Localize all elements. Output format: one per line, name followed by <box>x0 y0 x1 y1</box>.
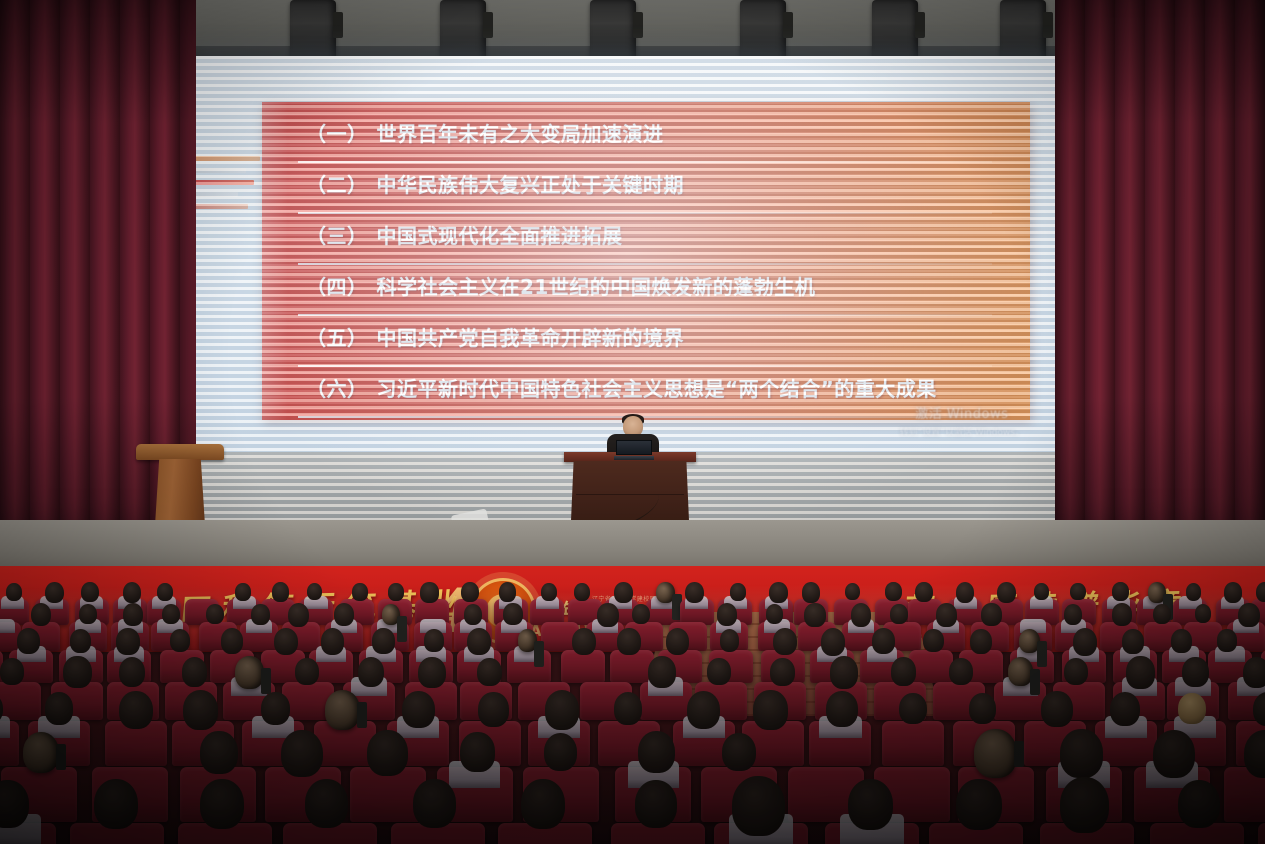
audience-member-head <box>94 779 138 829</box>
audience-member-head <box>281 730 323 778</box>
audience-member-head <box>1217 629 1236 651</box>
audience-member-head <box>541 583 557 601</box>
audience-member-head <box>826 691 858 727</box>
audience-member-head <box>372 628 395 654</box>
audience-member-head <box>235 656 264 689</box>
audience-member-head <box>949 658 973 685</box>
slide-item-text: 中国式现代化全面推进拓展 <box>377 224 623 248</box>
audience-member-head <box>597 603 619 628</box>
slide-item-number: （四） <box>306 275 368 299</box>
audience-seat <box>0 682 41 720</box>
audience-member-head <box>119 657 146 687</box>
audience-member-head <box>274 628 298 656</box>
audience-member-head <box>891 657 916 686</box>
audience-member-head <box>890 604 908 624</box>
audience-member-head <box>1112 582 1129 601</box>
watermark-title: 激活 Windows <box>900 403 1024 422</box>
audience-member-head <box>1182 657 1208 687</box>
stage-spotlight <box>290 0 336 58</box>
audience-member-head <box>804 603 825 627</box>
audience-member-head <box>632 604 650 624</box>
audience-member-head <box>956 779 1001 831</box>
audience-member-head <box>123 582 142 603</box>
audience-member-head <box>206 604 224 625</box>
audience-member-head <box>717 603 737 626</box>
audience-member-head <box>923 629 943 652</box>
audience-member-head <box>116 628 140 655</box>
audience-member-head <box>221 628 243 653</box>
audience-member-head <box>0 658 24 685</box>
audience-member-head <box>420 582 438 603</box>
desk-seam <box>576 494 684 495</box>
audience-member-head <box>183 690 218 730</box>
audience-member-head <box>848 779 893 830</box>
audience-member-head <box>544 733 578 771</box>
audience-member-head <box>307 583 322 600</box>
audience-member-head <box>899 693 927 725</box>
slide-item: （四）科学社会主义在21世纪的中国焕发新的蓬勃生机 <box>262 265 1030 316</box>
audience-member-head <box>1178 780 1220 828</box>
audience-member-head <box>518 629 537 651</box>
audience-member-head <box>1153 604 1171 625</box>
audience-member-head <box>63 656 91 688</box>
audience-member-head <box>997 582 1016 604</box>
audience-member-head <box>478 692 509 727</box>
audience-member-head <box>1112 603 1132 625</box>
audience-member-head <box>770 658 795 686</box>
audience-member-head <box>936 603 957 627</box>
audience-member-head <box>1034 583 1049 600</box>
audience-member-head <box>358 657 385 687</box>
audience-seat <box>882 721 944 766</box>
audience-member-head <box>1153 730 1195 778</box>
slide-item-number: （三） <box>306 224 368 248</box>
audience-member-head <box>769 582 788 604</box>
slide-item: （一）世界百年未有之大变局加速演进 <box>262 112 1030 163</box>
audience-member-head <box>382 604 401 625</box>
audience-member-head <box>574 583 590 601</box>
audience-uniform <box>0 716 10 739</box>
audience-seat <box>909 650 953 683</box>
audience-member-head <box>251 604 270 625</box>
audience-member-head <box>200 779 244 829</box>
audience-member-head <box>477 658 502 686</box>
audience-member-head <box>885 582 902 601</box>
audience-member-head <box>617 628 640 655</box>
audience-member-head <box>730 583 746 601</box>
windows-activation-watermark: 激活 Windows 转到“设置”以激活 Windows。 <box>900 403 1024 438</box>
slide-item-text: 世界百年未有之大变局加速演进 <box>377 122 664 146</box>
audience-member-head <box>334 603 354 626</box>
audience-member-head <box>17 628 40 654</box>
audience-member-head <box>1064 658 1088 686</box>
slide-item-text: 中国共产党自我革命开辟新的境界 <box>377 326 685 350</box>
audience-member-head <box>1256 582 1265 602</box>
audience-member-head <box>305 779 348 828</box>
slide-item-number: （二） <box>306 173 368 197</box>
audience-member-head <box>367 730 407 776</box>
audience-member-head <box>830 656 858 688</box>
audience-member-head <box>424 629 444 651</box>
audience-member-head <box>272 582 289 601</box>
slide-item-text: 科学社会主义在21世纪的中国焕发新的蓬勃生机 <box>377 275 816 299</box>
audience-member-head <box>45 582 64 604</box>
stage-spotlight <box>872 0 918 58</box>
lectern-top <box>136 444 224 460</box>
laptop-keyboard <box>614 456 654 460</box>
slide-item: （五）中国共产党自我革命开辟新的境界 <box>262 316 1030 367</box>
audience-member-head <box>1224 582 1242 603</box>
slide-content-panel: （一）世界百年未有之大变局加速演进 （二）中华民族伟大复兴正处于关键时期 （三）… <box>262 102 1030 420</box>
audience-member-head <box>288 603 310 628</box>
audience-member-head <box>872 628 895 654</box>
audience-member-head <box>707 658 731 685</box>
laptop-screen <box>616 440 652 455</box>
audience-member-head <box>1148 582 1166 603</box>
audience-member-head <box>722 733 756 771</box>
audience-member-head <box>732 776 785 836</box>
audience-member-head <box>766 604 783 624</box>
slide-item-number: （六） <box>306 377 368 401</box>
audience-member-head <box>1019 629 1040 653</box>
audience-member-head <box>1073 628 1098 656</box>
slide-item: （三）中国式现代化全面推进拓展 <box>262 214 1030 265</box>
audience-member-head <box>157 583 173 601</box>
audience-member-head <box>162 604 180 625</box>
audience-member-head <box>119 691 153 729</box>
audience-member-head <box>1186 583 1202 601</box>
audience-member-head <box>1110 692 1141 727</box>
audience-member-head <box>418 657 446 688</box>
audience-member-head <box>200 731 237 774</box>
audience-member-head <box>545 690 580 729</box>
audience-member-head <box>851 603 872 627</box>
audience-member-head <box>687 691 720 729</box>
audience-member-head <box>1008 657 1034 686</box>
slide-item-list: （一）世界百年未有之大变局加速演进 （二）中华民族伟大复兴正处于关键时期 （三）… <box>262 102 1030 418</box>
audience-member-head <box>969 693 996 724</box>
watermark-subtitle: 转到“设置”以激活 Windows。 <box>900 425 1024 438</box>
audience-member-head <box>1243 657 1265 688</box>
audience-member-head <box>773 628 797 655</box>
audience-member-head <box>572 628 596 655</box>
slide-item-text: 习近平新时代中国特色社会主义思想是“两个结合”的重大成果 <box>377 377 937 401</box>
audience-member-head <box>1122 629 1144 654</box>
audience-member-head <box>635 780 677 828</box>
stage-spotlight <box>440 0 486 58</box>
laptop <box>614 440 654 460</box>
stage-spotlight <box>740 0 786 58</box>
stage-curtain-right <box>1055 0 1265 566</box>
audience-member-head <box>956 582 975 603</box>
audience-member-head <box>720 629 740 651</box>
audience-member-head <box>413 779 456 828</box>
audience-member-head <box>1060 777 1109 833</box>
stage-spotlight <box>590 0 636 58</box>
audience-member-head <box>295 658 319 685</box>
audience-member-head <box>974 729 1017 778</box>
audience-member-head <box>352 583 368 601</box>
audience-member-head <box>845 583 860 600</box>
audience-member-head <box>499 582 516 602</box>
audience-member-head <box>648 656 676 688</box>
audience-member-head <box>753 690 787 729</box>
audience-member-head <box>321 628 344 655</box>
audience-member-head <box>461 582 479 602</box>
auditorium-scene: （一）世界百年未有之大变局加速演进 （二）中华民族伟大复兴正处于关键时期 （三）… <box>0 0 1265 844</box>
audience-member-head <box>182 657 208 686</box>
audience-member-head <box>1041 691 1072 727</box>
audience-member-head <box>614 582 633 603</box>
audience-member-head <box>170 629 190 652</box>
slide-item-number: （一） <box>306 122 368 146</box>
audience-member-head <box>388 583 404 601</box>
slide-item: （二）中华民族伟大复兴正处于关键时期 <box>262 163 1030 214</box>
audience-member-head <box>614 692 643 725</box>
audience-member-head <box>638 731 675 773</box>
audience-member-head <box>6 583 22 601</box>
audience-member-head <box>981 603 1001 626</box>
audience-member-head <box>79 604 97 625</box>
audience-member-head <box>656 582 675 604</box>
audience-member-head <box>1178 693 1206 725</box>
audience-member-head <box>460 732 494 771</box>
stage-spotlight <box>1000 0 1046 58</box>
audience-member-head <box>1064 604 1083 625</box>
audience-area <box>0 586 1265 844</box>
audience-member-head <box>464 604 482 625</box>
audience-member-head <box>666 628 690 655</box>
audience-member-head <box>503 603 522 625</box>
audience-member-head <box>81 582 99 603</box>
audience-member-head <box>915 582 933 602</box>
audience-seat <box>1258 823 1265 844</box>
audience-member-head <box>123 603 143 626</box>
audience-member-head <box>521 779 565 829</box>
audience-member-head <box>70 629 91 653</box>
audience-member-head <box>45 692 73 724</box>
audience-member-head <box>802 582 820 603</box>
audience-member-head <box>325 690 360 730</box>
audience-member-head <box>821 628 846 656</box>
audience-member-head <box>970 629 992 654</box>
audience-member-head <box>261 692 290 725</box>
audience-member-head <box>1070 583 1086 601</box>
audience-member-head <box>402 691 435 729</box>
audience-member-head <box>1195 604 1212 623</box>
audience-member-head <box>1060 729 1103 778</box>
audience-member-head <box>685 582 704 604</box>
audience-uniform <box>0 619 15 634</box>
audience-member-head <box>467 628 491 656</box>
audience-member-head <box>31 603 52 626</box>
audience-member-head <box>23 732 59 773</box>
slide-item-number: （五） <box>306 326 368 350</box>
audience-member-head <box>1171 629 1192 653</box>
audience-member-head <box>1238 603 1260 628</box>
audience-member-head <box>1126 656 1154 688</box>
audience-member-head <box>235 583 251 601</box>
slide-item-text: 中华民族伟大复兴正处于关键时期 <box>377 173 685 197</box>
